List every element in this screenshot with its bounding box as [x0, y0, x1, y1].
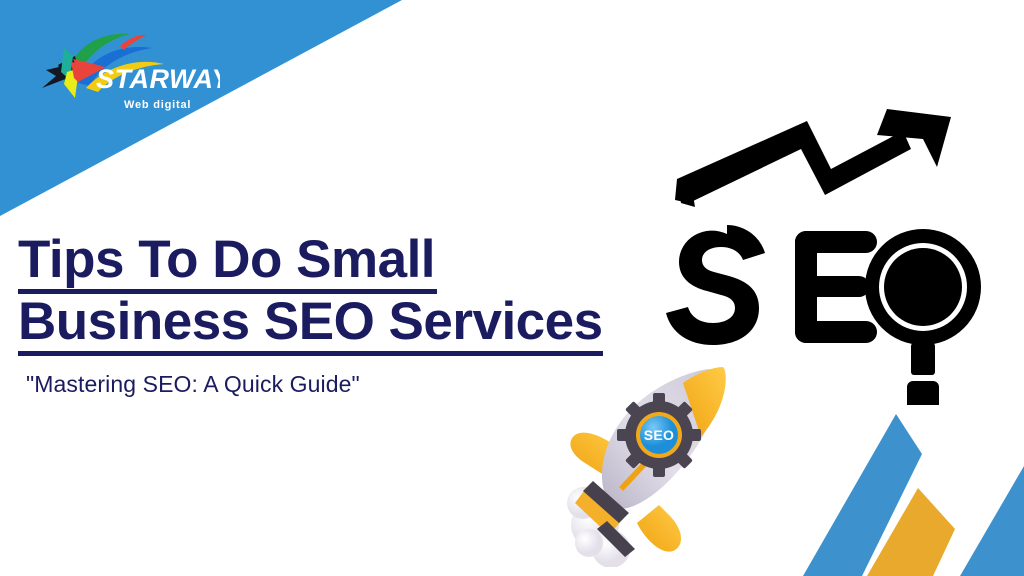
- rocket-badge-text: SEO: [644, 427, 674, 443]
- magnifier-icon: [865, 229, 981, 405]
- headline-line-2: Business SEO Services: [18, 294, 603, 356]
- chevron-decorations: [785, 392, 1024, 576]
- growth-arrow-icon: [675, 109, 951, 207]
- rocket-illustration: SEO: [563, 357, 753, 567]
- logo-brand-text: STARWAY: [96, 64, 220, 94]
- letter-s: [666, 225, 765, 345]
- subtitle: "Mastering SEO: A Quick Guide": [26, 371, 360, 398]
- rocket-fin-right: [637, 505, 681, 552]
- starway-logo[interactable]: STARWAY Web digital: [34, 26, 220, 116]
- seo-promo-banner: STARWAY Web digital Tips To Do Small Bus…: [0, 0, 1024, 576]
- letter-e: [795, 231, 877, 343]
- headline: Tips To Do Small Business SEO Services: [18, 232, 658, 356]
- logo-tagline-text: Web digital: [124, 99, 191, 111]
- headline-line-1: Tips To Do Small: [18, 232, 437, 294]
- rocket-seo-gear-badge: SEO: [617, 393, 701, 477]
- chevron-blue-right: [960, 466, 1024, 576]
